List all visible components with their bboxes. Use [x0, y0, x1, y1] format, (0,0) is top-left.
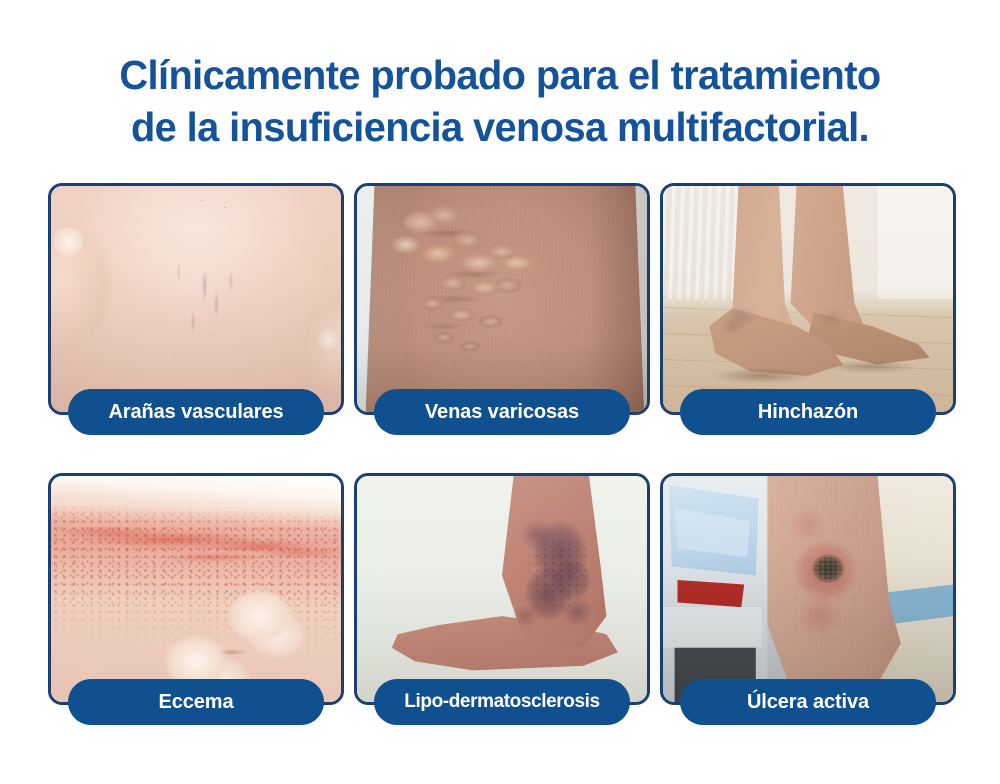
promotional-banner: Clínicamente probado para el tratamiento… [0, 0, 1000, 784]
condition-card-eczema[interactable]: Eccema [48, 473, 344, 705]
varicose-veins-photo [357, 186, 647, 412]
condition-label-swelling[interactable]: Hinchazón [680, 389, 936, 435]
photo-shading-overlay [357, 186, 647, 412]
condition-card-grid: Arañas vasculares Venas varicosas [48, 183, 956, 705]
condition-card-spider-veins[interactable]: Arañas vasculares [48, 183, 344, 415]
condition-label-active-ulcer[interactable]: Úlcera activa [680, 679, 936, 725]
eczema-photo [51, 476, 341, 702]
spider-veins-photo [51, 186, 341, 412]
swelling-photo [663, 186, 953, 412]
photo-shading-overlay [357, 476, 647, 702]
condition-card-lipodermatosclerosis[interactable]: Lipo-dermatosclerosis [354, 473, 650, 705]
fingers-shape [51, 476, 341, 702]
floor-shadow-layer [663, 186, 953, 412]
photo-shading-overlay [51, 186, 341, 412]
condition-label-eczema[interactable]: Eccema [68, 679, 324, 725]
condition-card-swelling[interactable]: Hinchazón [660, 183, 956, 415]
condition-card-active-ulcer[interactable]: Úlcera activa [660, 473, 956, 705]
photo-shading-overlay [663, 476, 953, 702]
condition-label-varicose-veins[interactable]: Venas varicosas [374, 389, 630, 435]
active-ulcer-photo [663, 476, 953, 702]
lipodermatosclerosis-photo [357, 476, 647, 702]
page-title: Clínicamente probado para el tratamiento… [15, 49, 985, 153]
condition-label-spider-veins[interactable]: Arañas vasculares [68, 389, 324, 435]
condition-label-lipodermatosclerosis[interactable]: Lipo-dermatosclerosis [374, 679, 630, 725]
condition-card-varicose-veins[interactable]: Venas varicosas [354, 183, 650, 415]
